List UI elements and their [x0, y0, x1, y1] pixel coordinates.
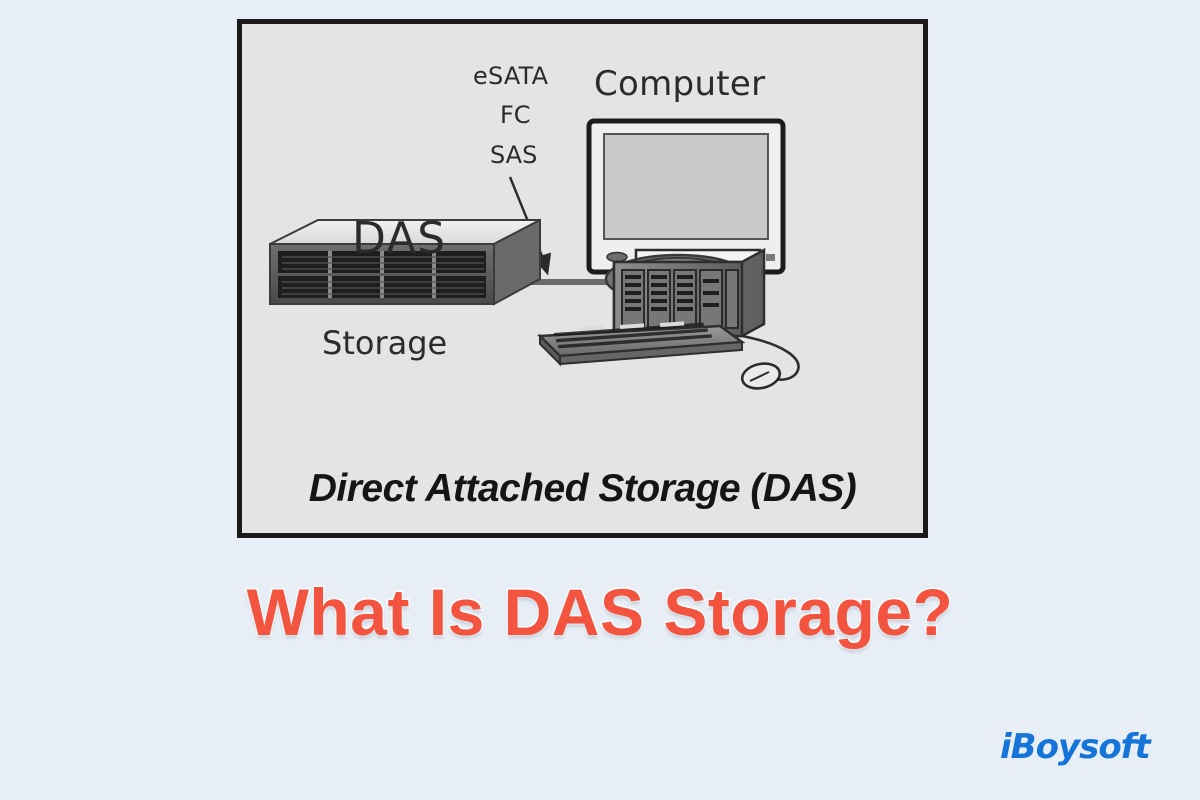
iboysoft-logo: iBoysoft — [1000, 727, 1150, 767]
label-das: DAS — [352, 213, 446, 264]
diagram-graphics — [242, 24, 923, 533]
keyboard-icon — [540, 321, 742, 364]
label-esata: eSATA — [473, 62, 548, 90]
page-title: What Is DAS Storage? — [0, 574, 1200, 650]
mouse-icon — [740, 336, 799, 392]
label-storage: Storage — [322, 324, 447, 362]
diagram-caption: Direct Attached Storage (DAS) — [242, 467, 923, 511]
label-fc: FC — [500, 101, 531, 129]
das-diagram: eSATA FC SAS Computer DAS Storage Direct… — [237, 19, 928, 538]
label-computer: Computer — [594, 64, 765, 104]
diagram-canvas: eSATA FC SAS Computer DAS Storage Direct… — [242, 24, 923, 533]
computer-tower-icon — [614, 250, 764, 336]
label-sas: SAS — [490, 141, 537, 169]
